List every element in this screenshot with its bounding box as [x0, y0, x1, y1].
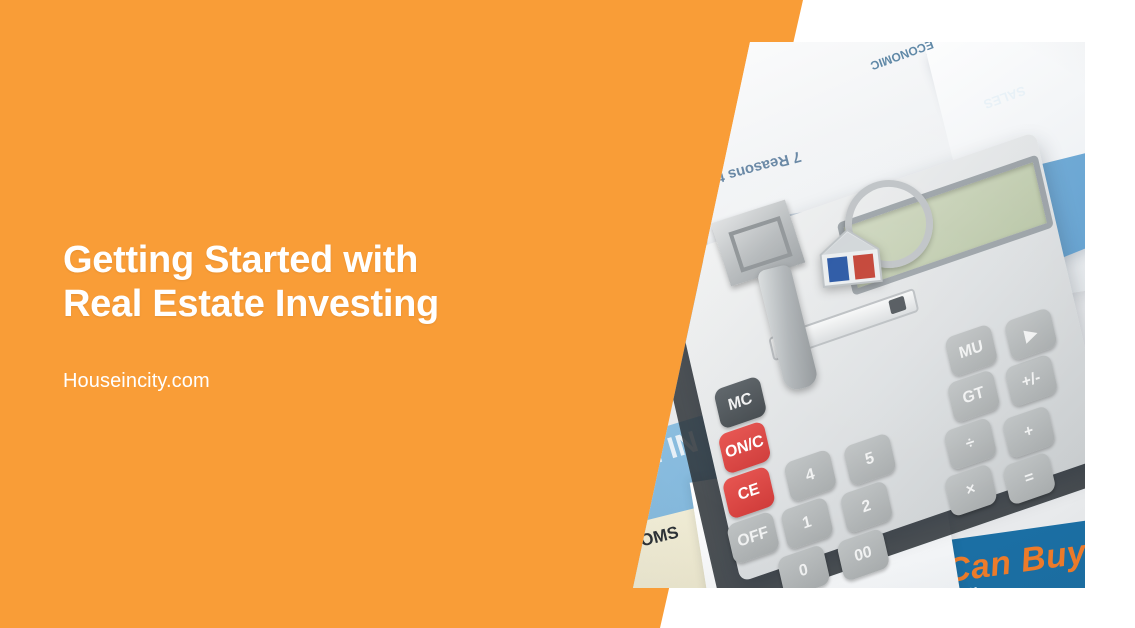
calc-key-1[interactable]: 1 — [780, 496, 834, 551]
calc-key-5[interactable]: 5 — [843, 432, 897, 487]
text-block: Getting Started with Real Estate Investi… — [63, 238, 583, 394]
calc-key-plus[interactable]: + — [1002, 405, 1056, 460]
page-title: Getting Started with Real Estate Investi… — [63, 238, 583, 326]
slide-canvas: Getting Started with Real Estate Investi… — [0, 0, 1135, 628]
calc-key-4[interactable]: 4 — [783, 448, 837, 503]
calc-key-arrow[interactable]: ▶ — [1004, 307, 1058, 362]
calc-key-divide[interactable]: ÷ — [943, 417, 997, 472]
calc-key-2[interactable]: 2 — [839, 480, 893, 535]
house-tag-icon — [816, 225, 884, 289]
calc-key-off[interactable]: OFF — [726, 510, 780, 565]
calc-key-mu[interactable]: MU — [944, 323, 998, 378]
calc-key-plusminus[interactable]: +/- — [1004, 353, 1058, 408]
calc-key-0[interactable]: 0 — [777, 544, 831, 588]
source-label: Houseincity.com — [63, 326, 583, 394]
calc-key-gt[interactable]: GT — [946, 369, 1000, 424]
